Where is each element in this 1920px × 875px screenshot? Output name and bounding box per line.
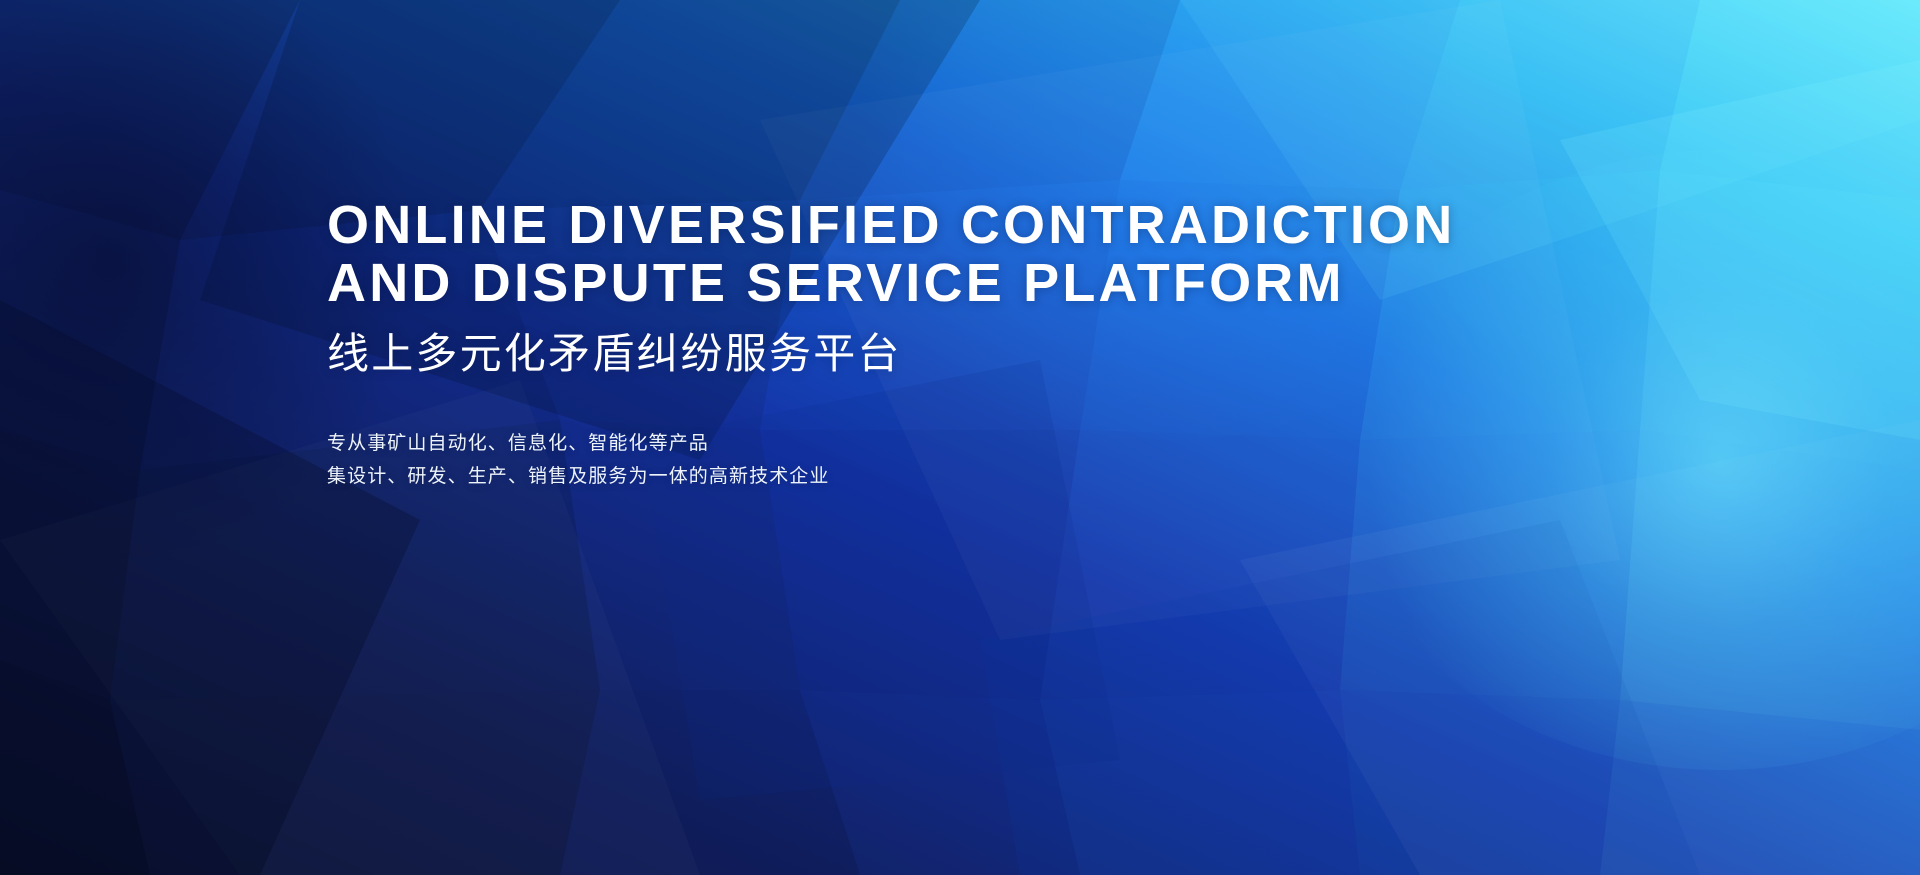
hero-content: ONLINE DIVERSIFIED CONTRADICTION AND DIS…	[327, 196, 1727, 493]
description-line-1: 专从事矿山自动化、信息化、智能化等产品	[327, 427, 1727, 460]
description-line-2: 集设计、研发、生产、销售及服务为一体的高新技术企业	[327, 460, 1727, 493]
headline-line-1: ONLINE DIVERSIFIED CONTRADICTION	[327, 196, 1727, 254]
hero-banner: ONLINE DIVERSIFIED CONTRADICTION AND DIS…	[0, 0, 1920, 875]
hero-headline-english: ONLINE DIVERSIFIED CONTRADICTION AND DIS…	[327, 196, 1727, 312]
headline-line-2: AND DISPUTE SERVICE PLATFORM	[327, 254, 1727, 312]
hero-description-list: 专从事矿山自动化、信息化、智能化等产品 集设计、研发、生产、销售及服务为一体的高…	[327, 427, 1727, 493]
hero-subtitle-chinese: 线上多元化矛盾纠纷服务平台	[327, 330, 1727, 378]
